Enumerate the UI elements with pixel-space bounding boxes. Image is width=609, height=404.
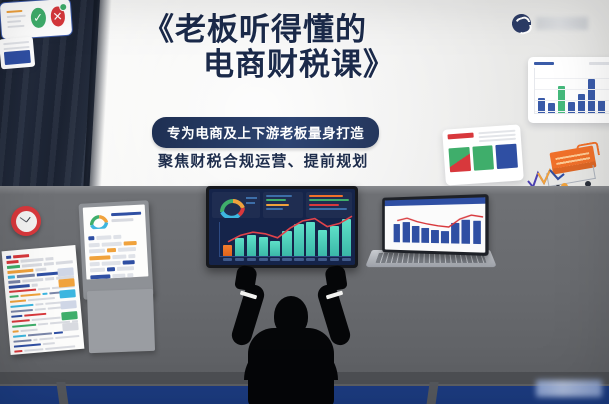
check-circle-icon: ✓ [30, 7, 46, 28]
text-line [309, 195, 343, 197]
x-tick-label [294, 258, 303, 261]
torso [248, 328, 334, 404]
row-segment [10, 295, 19, 298]
row-segment [13, 254, 29, 258]
row-segment [13, 339, 31, 343]
row-segment [12, 319, 30, 323]
doc-title-bar [447, 133, 473, 140]
chart-y-axis [219, 222, 220, 256]
x-tick-label [223, 258, 232, 261]
side-block [62, 322, 79, 331]
row-segment [112, 254, 126, 259]
course-poster: 《老板听得懂的 电商财税课》 专为电商及上下游老板量身打造 聚焦财税合规运营、提… [0, 0, 609, 404]
doc-color-tiles [448, 144, 518, 173]
row-segment [38, 287, 51, 291]
row-segment [107, 248, 116, 252]
doc-card-header [447, 130, 516, 145]
side-block [59, 289, 76, 298]
row-segment [55, 335, 79, 340]
row-segment [20, 258, 43, 263]
row-segment [43, 342, 55, 346]
hand-right [324, 265, 348, 292]
row-segment [17, 274, 35, 278]
x-tick-label [259, 258, 268, 261]
row-segment [89, 243, 100, 248]
text-line [6, 10, 22, 14]
row-segment [7, 265, 20, 269]
bottom-redacted-watermark [536, 380, 602, 397]
text-line [479, 138, 516, 143]
row-segment [90, 274, 110, 279]
row-segment [123, 260, 135, 265]
row-segment [35, 303, 43, 306]
row-segment [42, 292, 47, 295]
text-line [7, 15, 26, 19]
row-segment [127, 273, 133, 277]
cross-glyph: ✕ [52, 10, 63, 23]
row-segment [45, 257, 53, 260]
gray-tablet [79, 200, 154, 300]
chart-gridlines [535, 68, 609, 113]
x-tick-label [330, 258, 339, 261]
row-segment [38, 322, 48, 325]
hand-left [234, 265, 258, 292]
bar-chart-card [528, 57, 609, 123]
row-segment [113, 235, 121, 239]
row-segment [124, 241, 137, 246]
chart-printout-document [2, 245, 85, 355]
laptop-lid [382, 194, 488, 256]
laptop [372, 196, 490, 272]
text-line [266, 195, 292, 197]
text-line [309, 208, 347, 210]
row-segment [8, 275, 15, 278]
row-segment [10, 304, 33, 309]
row-segment [89, 255, 110, 260]
infographic-donut-icon [87, 208, 148, 229]
row-segment [35, 268, 46, 272]
text-line [3, 45, 29, 49]
gray-tablet-stand [87, 289, 155, 353]
row-segment [89, 249, 105, 254]
row-segment [35, 308, 46, 312]
row-segment [12, 323, 36, 328]
compliance-check-card: ✓ ✕ [0, 0, 73, 40]
tablet-screen [209, 189, 355, 265]
row-segment [128, 254, 135, 258]
row-segment [14, 343, 41, 348]
infographic-row [91, 279, 145, 280]
row-segment [6, 260, 18, 264]
tile-red-green [448, 147, 470, 172]
trend-line [223, 212, 355, 256]
row-segment [112, 273, 125, 278]
row-segment [21, 328, 38, 332]
x-tick-label [342, 258, 351, 261]
chart-card-header [534, 62, 609, 65]
row-segment [45, 277, 54, 280]
side-block [58, 278, 75, 287]
row-segment [102, 241, 122, 246]
x-tick-label [235, 258, 244, 261]
x-tick-label [247, 258, 256, 261]
row-segment [20, 293, 40, 297]
row-segment [9, 288, 36, 293]
row-segment [14, 350, 22, 353]
row-segment [102, 261, 121, 266]
blue-block [4, 50, 31, 65]
chart-x-axis [219, 256, 351, 257]
row-segment [32, 283, 38, 286]
poster-subtitle: 聚焦财税合规运营、提前规划 [158, 150, 369, 171]
row-segment [28, 297, 55, 302]
text-line [3, 41, 29, 45]
brand-logo [512, 14, 588, 33]
presenter-silhouette [218, 262, 364, 404]
poster-title: 《老板听得懂的 电商财税课》 [108, 14, 438, 81]
text-line [309, 204, 339, 206]
dashboard-tablet [206, 186, 358, 268]
row-segment [90, 268, 105, 273]
row-segment [54, 331, 63, 334]
text-line [309, 199, 349, 201]
card-text-lines [6, 8, 27, 39]
x-tick-label [306, 258, 315, 261]
audience-badge: 专为电商及上下游老板量身打造 [152, 117, 379, 148]
row-segment [117, 266, 134, 271]
row-segment [55, 260, 72, 264]
row-segment [13, 334, 26, 338]
tile-green [472, 145, 494, 170]
infographic-page [83, 204, 149, 279]
row-segment [33, 338, 38, 341]
x-tick-label [318, 258, 327, 261]
text-line [266, 208, 283, 210]
row-segment [6, 256, 11, 259]
side-block [61, 311, 78, 320]
laptop-screen [385, 197, 485, 252]
text-line [266, 199, 286, 201]
cross-circle-icon: ✕ [50, 6, 66, 27]
clock-minute-hand [19, 216, 26, 222]
row-segment [9, 284, 30, 288]
chart-card-legend-bar [589, 62, 609, 65]
chart-card-plot [534, 68, 609, 114]
row-segment [10, 299, 26, 303]
row-segment [39, 337, 53, 341]
side-block [57, 267, 74, 276]
laptop-trend-line [394, 208, 486, 244]
row-segment [43, 262, 53, 265]
mini-document-card [0, 37, 35, 70]
row-segment [90, 262, 100, 267]
row-segment [96, 236, 111, 241]
tile-blue [496, 144, 518, 169]
row-segment [22, 278, 44, 282]
title-line-2: 电商财税课》 [108, 49, 438, 81]
row-segment [8, 280, 20, 284]
row-segment [24, 348, 43, 352]
x-tick-label [270, 258, 279, 261]
row-segment [107, 267, 115, 271]
report-document-card [442, 124, 524, 185]
doc-text-lines [478, 130, 516, 143]
text-line [7, 25, 24, 29]
text-line [7, 20, 21, 23]
screen-header-bar [385, 197, 485, 206]
row-segment [11, 309, 33, 313]
row-segment [28, 332, 52, 337]
row-segment [11, 315, 22, 319]
notification-dot-icon [59, 3, 68, 12]
title-line-1: 《老板听得懂的 [108, 14, 438, 46]
row-segment [88, 237, 94, 241]
row-segment [24, 313, 46, 318]
row-segment [118, 247, 136, 252]
side-block [60, 300, 77, 309]
row-segment [7, 269, 33, 274]
row-segment [13, 330, 19, 333]
laptop-chart [394, 210, 481, 249]
infographic-row [90, 272, 144, 279]
brand-name-redacted [536, 17, 588, 30]
x-tick-label [282, 258, 291, 261]
chart-card-title-bar [534, 62, 554, 65]
s-circle-logo-icon [512, 14, 531, 33]
row-segment [22, 263, 42, 267]
text-line [266, 204, 289, 206]
clock-face [16, 211, 37, 232]
red-wall-clock [11, 206, 41, 236]
